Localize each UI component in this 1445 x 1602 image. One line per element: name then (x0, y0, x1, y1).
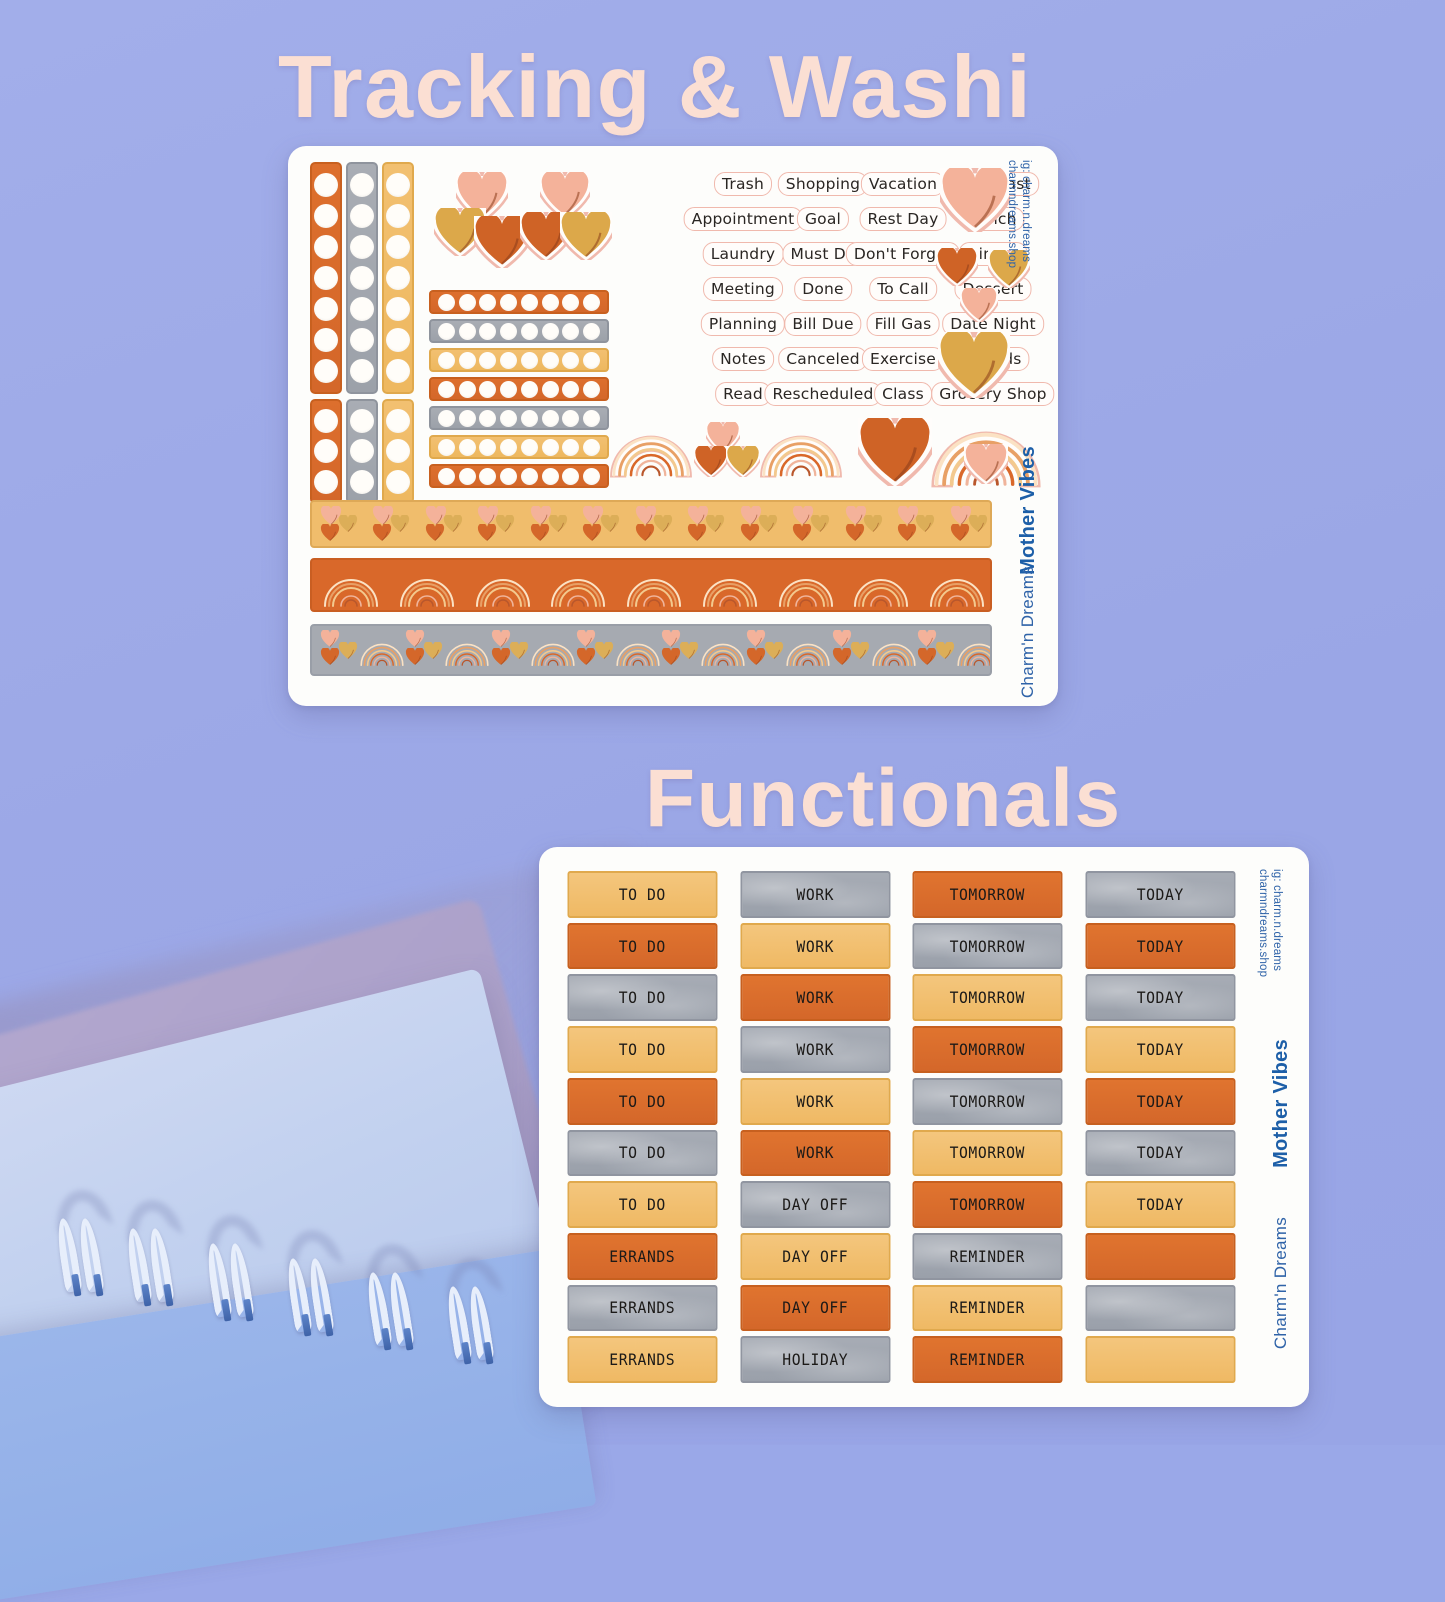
functional-sticker-tomorrow[interactable]: TOMORROW (913, 923, 1063, 970)
tracker-circle[interactable] (350, 235, 374, 259)
rainbow-sticker[interactable] (608, 418, 694, 483)
word-label-sticker[interactable]: Trash (714, 172, 772, 196)
tracker-circle[interactable] (500, 410, 517, 427)
tracker-circle[interactable] (314, 173, 338, 197)
tracker-circle[interactable] (314, 359, 338, 383)
word-label-sticker[interactable]: Exercise (862, 347, 944, 371)
word-label-sticker[interactable]: Shopping (778, 172, 868, 196)
functional-sticker-holiday[interactable]: HOLIDAY (740, 1336, 890, 1383)
horizontal-tracker-orange[interactable] (429, 377, 609, 401)
tracker-circle[interactable] (562, 410, 579, 427)
tracker-circle[interactable] (542, 381, 559, 398)
functional-sticker-errands[interactable]: ERRANDS (568, 1233, 718, 1280)
vertical-tracker-orange-bottom[interactable] (310, 399, 342, 504)
tracker-circle[interactable] (438, 323, 455, 340)
tracker-circle[interactable] (438, 468, 455, 485)
tracker-circle[interactable] (479, 410, 496, 427)
functional-sticker-today[interactable]: TODAY (1085, 1181, 1235, 1228)
functional-sticker-day-off[interactable]: DAY OFF (740, 1181, 890, 1228)
tracker-circle[interactable] (542, 468, 559, 485)
functional-sticker-errands[interactable]: ERRANDS (568, 1336, 718, 1383)
functional-sticker-blank[interactable] (1085, 1285, 1235, 1332)
word-label-sticker[interactable]: Laundry (703, 242, 784, 266)
functional-sticker-to-do[interactable]: TO DO (568, 1130, 718, 1177)
tracker-circle[interactable] (562, 352, 579, 369)
tracker-circle[interactable] (314, 266, 338, 290)
tracker-circle[interactable] (438, 352, 455, 369)
functional-sticker-day-off[interactable]: DAY OFF (740, 1285, 890, 1332)
tracker-circle[interactable] (562, 468, 579, 485)
brand-shop: Charm'n Dreams (1018, 566, 1038, 698)
tracker-circle[interactable] (583, 410, 600, 427)
vertical-tracker-yellow-bottom[interactable] (382, 399, 414, 504)
word-label-sticker[interactable]: Done (794, 277, 852, 301)
tracker-circle[interactable] (386, 409, 410, 433)
tracker-circle[interactable] (386, 204, 410, 228)
horizontal-tracker-orange[interactable] (429, 464, 609, 488)
functional-sticker-today[interactable]: TODAY (1085, 1130, 1235, 1177)
heart-sticker-gold[interactable] (560, 212, 612, 265)
tracker-circle[interactable] (583, 352, 600, 369)
horizontal-tracker-gray[interactable] (429, 319, 609, 343)
tracker-circle[interactable] (438, 381, 455, 398)
word-label-sticker[interactable]: Rest Day (860, 207, 947, 231)
brand-shop: Charm'n Dreams (1271, 1217, 1291, 1349)
tracker-circle[interactable] (350, 204, 374, 228)
tracker-circle[interactable] (542, 294, 559, 311)
functional-sticker-tomorrow[interactable]: TOMORROW (913, 1026, 1063, 1073)
rainbow-sticker[interactable] (758, 418, 844, 483)
tracker-circle[interactable] (438, 410, 455, 427)
functional-sticker-reminder[interactable]: REMINDER (913, 1336, 1063, 1383)
tracker-circle[interactable] (386, 173, 410, 197)
word-label-sticker[interactable]: Meeting (703, 277, 783, 301)
brand-website: charmndreams.shop (1257, 869, 1269, 977)
brand-collection: Mother Vibes (1017, 446, 1040, 575)
washi-tape-orange[interactable] (310, 558, 992, 612)
word-label-sticker[interactable]: To Call (869, 277, 937, 301)
word-label-sticker[interactable]: Canceled (778, 347, 867, 371)
brand-instagram: ig: charm.n.dreams (1271, 869, 1283, 971)
functional-sticker-tomorrow[interactable]: TOMORROW (913, 871, 1063, 918)
sticker-sheet-tracking[interactable]: TrashShoppingVacationBreakfastAppointmen… (288, 146, 1058, 706)
heart-sticker-orange[interactable] (694, 446, 728, 482)
word-label-sticker[interactable]: Rescheduled (764, 382, 881, 406)
horizontal-tracker-yellow[interactable] (429, 435, 609, 459)
tracker-circle[interactable] (562, 381, 579, 398)
horizontal-tracker-gray[interactable] (429, 406, 609, 430)
tracker-circle[interactable] (562, 439, 579, 456)
word-label-sticker[interactable]: Planning (701, 312, 785, 336)
functional-sticker-work[interactable]: WORK (740, 1026, 890, 1073)
tracker-circle[interactable] (479, 381, 496, 398)
tracker-circle[interactable] (386, 235, 410, 259)
washi-tape-gray[interactable] (310, 624, 992, 676)
tracker-circle[interactable] (583, 468, 600, 485)
brand-collection: Mother Vibes (1270, 1039, 1293, 1168)
vertical-tracker-gray-bottom[interactable] (346, 399, 378, 504)
tracker-circle[interactable] (479, 294, 496, 311)
heart-sticker-peach-small[interactable] (960, 288, 998, 327)
tracker-circle[interactable] (386, 266, 410, 290)
tracker-circle[interactable] (438, 439, 455, 456)
tracker-circle[interactable] (500, 323, 517, 340)
tracker-circle[interactable] (350, 328, 374, 352)
word-label-sticker[interactable]: Notes (712, 347, 774, 371)
tracker-circle[interactable] (314, 409, 338, 433)
functional-sticker-tomorrow[interactable]: TOMORROW (913, 1078, 1063, 1125)
tracker-circle[interactable] (314, 328, 338, 352)
tracker-circle[interactable] (542, 352, 559, 369)
tracker-circle[interactable] (386, 328, 410, 352)
tracker-circle[interactable] (583, 294, 600, 311)
functional-sticker-work[interactable]: WORK (740, 923, 890, 970)
tracker-circle[interactable] (562, 323, 579, 340)
functional-sticker-to-do[interactable]: TO DO (568, 974, 718, 1021)
functional-sticker-work[interactable]: WORK (740, 1130, 890, 1177)
heart-sticker-orange-small[interactable] (936, 248, 978, 291)
functional-sticker-reminder[interactable]: REMINDER (913, 1285, 1063, 1332)
horizontal-tracker-yellow[interactable] (429, 348, 609, 372)
tracker-circle[interactable] (438, 294, 455, 311)
word-label-sticker[interactable]: Fill Gas (867, 312, 940, 336)
functional-sticker-tomorrow[interactable]: TOMORROW (913, 1181, 1063, 1228)
functional-sticker-to-do[interactable]: TO DO (568, 1078, 718, 1125)
functional-sticker-work[interactable]: WORK (740, 871, 890, 918)
functional-sticker-grid: TO DOWORKTOMORROWTODAYTO DOWORKTOMORROWT… (561, 871, 1241, 1383)
functional-sticker-to-do[interactable]: TO DO (568, 1026, 718, 1073)
tracker-circle[interactable] (583, 323, 600, 340)
vertical-tracker-orange-top[interactable] (310, 162, 342, 394)
tracker-circle[interactable] (350, 297, 374, 321)
functional-sticker-blank[interactable] (1085, 1336, 1235, 1383)
functional-sticker-reminder[interactable]: REMINDER (913, 1233, 1063, 1280)
functional-sticker-errands[interactable]: ERRANDS (568, 1285, 718, 1332)
tracker-circle[interactable] (521, 294, 538, 311)
tracker-circle[interactable] (314, 204, 338, 228)
functional-sticker-day-off[interactable]: DAY OFF (740, 1233, 890, 1280)
functional-sticker-to-do[interactable]: TO DO (568, 871, 718, 918)
functional-sticker-tomorrow[interactable]: TOMORROW (913, 1130, 1063, 1177)
tracker-circle[interactable] (521, 352, 538, 369)
tracker-circle[interactable] (521, 439, 538, 456)
tracker-circle[interactable] (350, 409, 374, 433)
brand-strip-tracking: charmndreams.shop ig: charm.n.dreams Mot… (996, 146, 1058, 706)
vertical-tracker-gray-top[interactable] (346, 162, 378, 394)
page-title-tracking: Tracking & Washi (278, 36, 1032, 138)
word-label-sticker[interactable]: Appointment (684, 207, 803, 231)
functional-sticker-today[interactable]: TODAY (1085, 1078, 1235, 1125)
tracker-circle[interactable] (459, 381, 476, 398)
tracker-circle[interactable] (562, 294, 579, 311)
brand-strip-functionals: charmndreams.shop ig: charm.n.dreams Mot… (1247, 847, 1309, 1407)
tracker-circle[interactable] (500, 294, 517, 311)
word-label-sticker[interactable]: Bill Due (784, 312, 861, 336)
functional-sticker-to-do[interactable]: TO DO (568, 923, 718, 970)
tracker-circle[interactable] (459, 294, 476, 311)
tracker-circle[interactable] (350, 359, 374, 383)
functional-sticker-work[interactable]: WORK (740, 974, 890, 1021)
tracker-circle[interactable] (542, 410, 559, 427)
tracker-circle[interactable] (314, 235, 338, 259)
tracker-circle[interactable] (521, 410, 538, 427)
tracker-circle[interactable] (350, 173, 374, 197)
tracker-circle[interactable] (350, 439, 374, 463)
heart-sticker-orange-large[interactable] (858, 418, 932, 491)
tracker-circle[interactable] (500, 468, 517, 485)
functional-sticker-today[interactable]: TODAY (1085, 871, 1235, 918)
functional-sticker-today[interactable]: TODAY (1085, 923, 1235, 970)
washi-tape-yellow[interactable] (310, 500, 992, 548)
sticker-sheet-functionals[interactable]: TO DOWORKTOMORROWTODAYTO DOWORKTOMORROWT… (539, 847, 1309, 1407)
functional-sticker-today[interactable]: TODAY (1085, 974, 1235, 1021)
tracker-circle[interactable] (459, 323, 476, 340)
tracker-circle[interactable] (542, 439, 559, 456)
horizontal-tracker-orange[interactable] (429, 290, 609, 314)
tracker-circle[interactable] (350, 266, 374, 290)
tracker-circle[interactable] (500, 381, 517, 398)
brand-instagram: ig: charm.n.dreams (1020, 160, 1032, 262)
tracker-circle[interactable] (479, 468, 496, 485)
tracker-circle[interactable] (479, 439, 496, 456)
tracker-circle[interactable] (386, 439, 410, 463)
tracker-circle[interactable] (459, 439, 476, 456)
functional-sticker-to-do[interactable]: TO DO (568, 1181, 718, 1228)
word-label-sticker[interactable]: Read (715, 382, 771, 406)
tracker-circle[interactable] (314, 297, 338, 321)
tracker-circle[interactable] (583, 381, 600, 398)
tracker-circle[interactable] (479, 323, 496, 340)
tracker-circle[interactable] (500, 352, 517, 369)
vertical-tracker-yellow-top[interactable] (382, 162, 414, 394)
tracker-circle[interactable] (350, 470, 374, 494)
heart-sticker-gold[interactable] (726, 446, 760, 482)
tracker-circle[interactable] (459, 410, 476, 427)
tracker-circle[interactable] (314, 439, 338, 463)
tracker-circle[interactable] (521, 468, 538, 485)
tracker-circle[interactable] (386, 359, 410, 383)
tracker-circle[interactable] (521, 323, 538, 340)
functional-sticker-today[interactable]: TODAY (1085, 1026, 1235, 1073)
tracker-circle[interactable] (542, 323, 559, 340)
functional-sticker-blank[interactable] (1085, 1233, 1235, 1280)
tracker-circle[interactable] (386, 470, 410, 494)
tracker-circle[interactable] (479, 352, 496, 369)
word-label-sticker[interactable]: Class (874, 382, 932, 406)
word-label-sticker[interactable]: Goal (797, 207, 849, 231)
tracker-circle[interactable] (521, 381, 538, 398)
functional-sticker-work[interactable]: WORK (740, 1078, 890, 1125)
brand-website: charmndreams.shop (1006, 160, 1018, 268)
word-label-sticker[interactable]: Vacation (861, 172, 945, 196)
tracker-circle[interactable] (459, 352, 476, 369)
tracker-circle[interactable] (386, 297, 410, 321)
tracker-circle[interactable] (583, 439, 600, 456)
page-title-functionals: Functionals (645, 752, 1122, 846)
tracker-circle[interactable] (314, 470, 338, 494)
tracker-circle[interactable] (459, 468, 476, 485)
tracker-circle[interactable] (500, 439, 517, 456)
functional-sticker-tomorrow[interactable]: TOMORROW (913, 974, 1063, 1021)
